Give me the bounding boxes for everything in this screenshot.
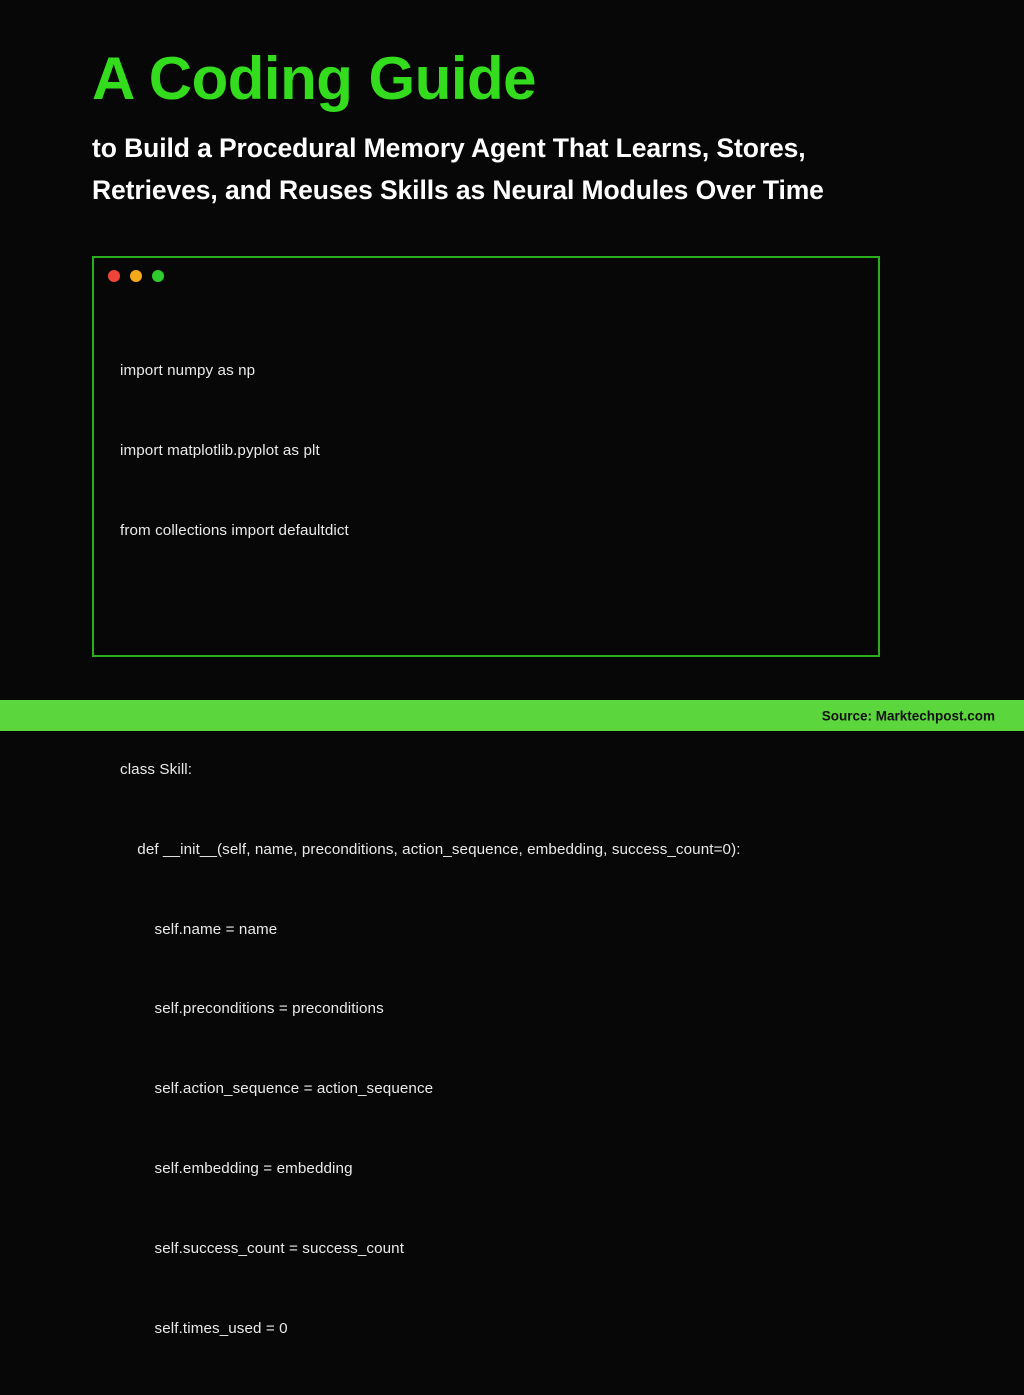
code-line: self.action_sequence = action_sequence [120, 1076, 868, 1103]
minimize-icon[interactable] [130, 270, 142, 282]
page-subtitle: to Build a Procedural Memory Agent That … [92, 128, 922, 212]
headline-block: A Coding Guide to Build a Procedural Mem… [92, 47, 922, 212]
poster-canvas: A Coding Guide to Build a Procedural Mem… [0, 0, 1024, 731]
code-line: self.times_used = 0 [120, 1316, 868, 1343]
code-line: from collections import defaultdict [120, 518, 868, 545]
code-line: import numpy as np [120, 358, 868, 385]
subtitle-line-1: to Build a Procedural Memory Agent That … [92, 128, 922, 170]
code-line: self.preconditions = preconditions [120, 996, 868, 1023]
code-line: self.embedding = embedding [120, 1156, 868, 1183]
code-line: self.success_count = success_count [120, 1236, 868, 1263]
code-line: self.name = name [120, 917, 868, 944]
code-window: import numpy as np import matplotlib.pyp… [92, 256, 880, 657]
subtitle-line-2: Retrieves, and Reuses Skills as Neural M… [92, 170, 922, 212]
page-title: A Coding Guide [92, 47, 922, 112]
close-icon[interactable] [108, 270, 120, 282]
code-line-blank [120, 598, 868, 625]
window-titlebar [108, 270, 164, 282]
source-attribution: Source: Marktechpost.com [822, 708, 995, 723]
maximize-icon[interactable] [152, 270, 164, 282]
code-line: def __init__(self, name, preconditions, … [120, 837, 868, 864]
code-editor-content[interactable]: import numpy as np import matplotlib.pyp… [120, 305, 868, 647]
code-line: import matplotlib.pyplot as plt [120, 438, 868, 465]
code-line: class Skill: [120, 757, 868, 784]
footer-bar: Source: Marktechpost.com [0, 700, 1024, 731]
